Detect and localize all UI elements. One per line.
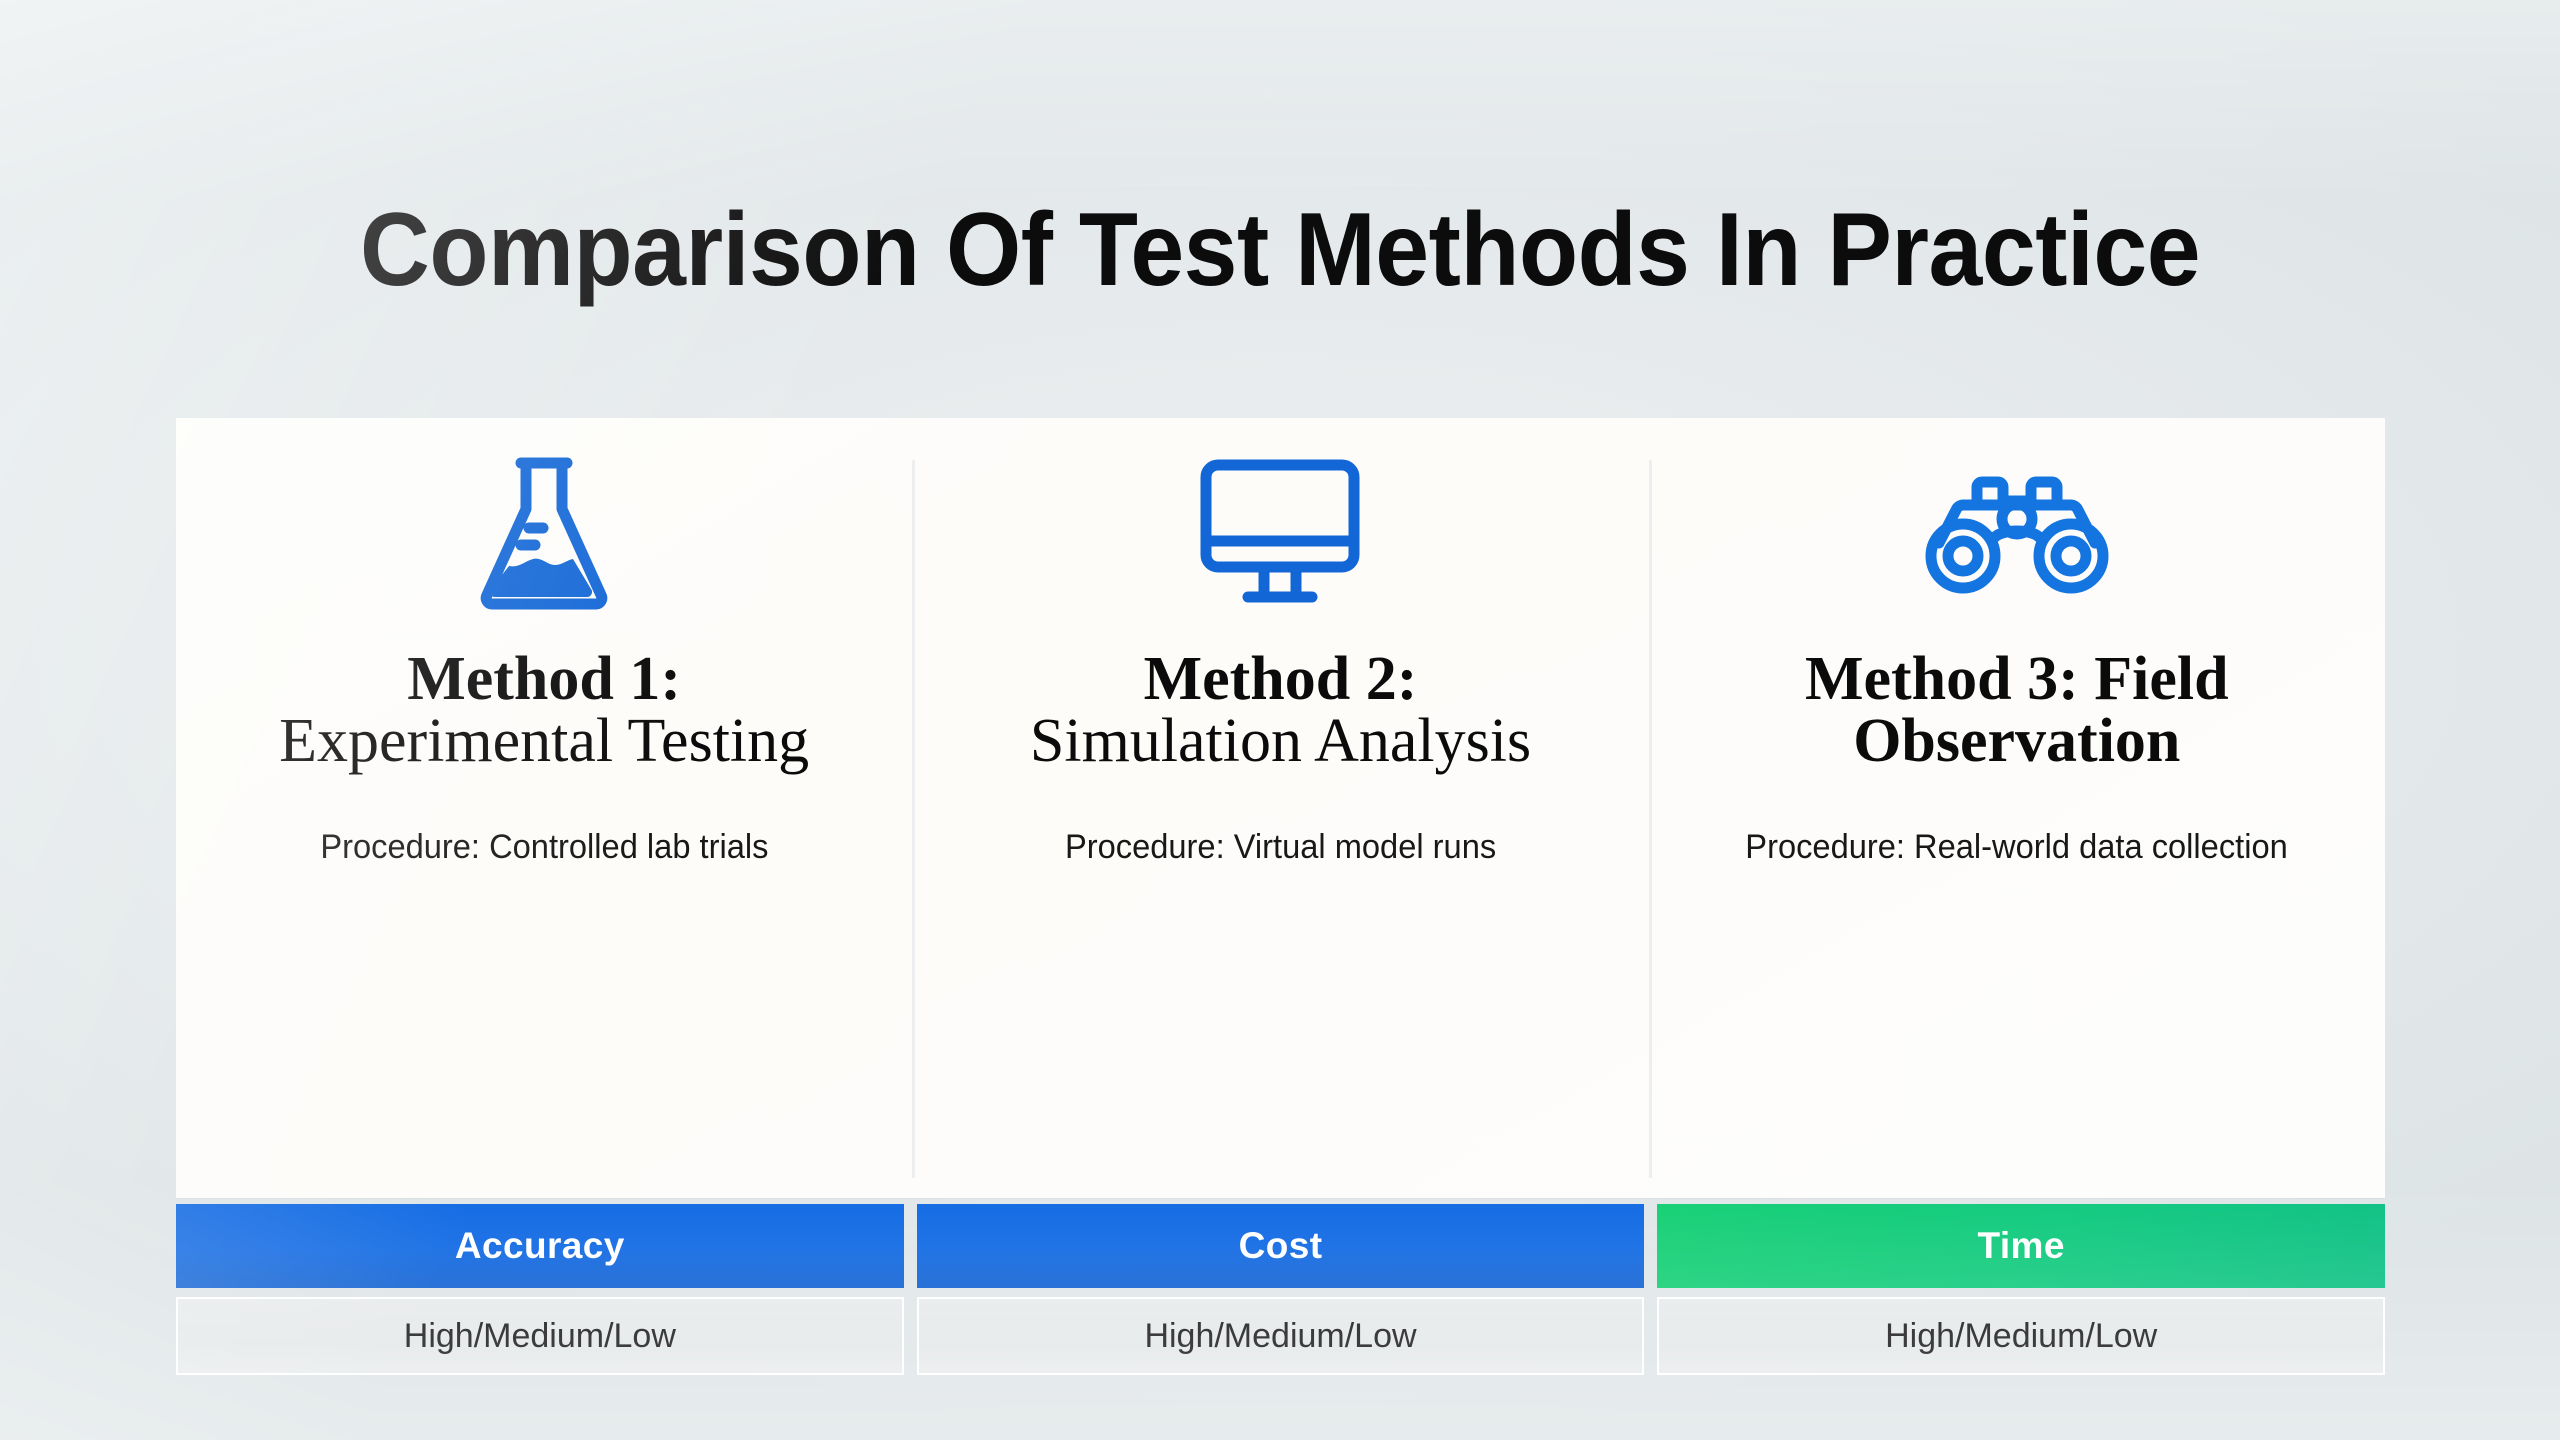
method-procedure-1: Procedure: Controlled lab trials [320,828,768,867]
method-heading-line2: Simulation Analysis [1030,710,1531,772]
metric-value-time: High/Medium/Low [1657,1297,2385,1375]
metric-value-cost: High/Medium/Low [917,1297,1645,1375]
method-procedure-2: Procedure: Virtual model runs [1065,828,1496,867]
metric-cost: Cost High/Medium/Low [917,1204,1645,1375]
metrics-row: Accuracy High/Medium/Low Cost High/Mediu… [176,1204,2385,1375]
method-heading-line2: Experimental Testing [279,710,809,772]
methods-panel: Method 1: Experimental Testing Procedure… [176,418,2385,1198]
slide-canvas: Comparison Of Test Methods In Practice M… [0,0,2560,1440]
method-heading-line1: Method 2: [1030,648,1531,710]
method-card-2[interactable]: Method 2: Simulation Analysis Procedure:… [912,418,1648,1198]
metric-accuracy: Accuracy High/Medium/Low [176,1204,904,1375]
method-procedure-3: Procedure: Real-world data collection [1746,828,2288,867]
method-heading-2: Method 2: Simulation Analysis [1030,648,1531,772]
binoculars-icon [1919,418,2115,648]
flask-icon [469,418,619,648]
method-heading-line2: Observation [1805,710,2229,772]
page-title: Comparison Of Test Methods In Practice [90,196,2471,305]
metric-time: Time High/Medium/Low [1657,1204,2385,1375]
method-card-3[interactable]: Method 3: Field Observation Procedure: R… [1649,418,2385,1198]
method-card-1[interactable]: Method 1: Experimental Testing Procedure… [176,418,912,1198]
monitor-icon [1198,418,1362,648]
method-heading-line1: Method 3: Field [1805,648,2229,710]
method-heading-1: Method 1: Experimental Testing [279,648,809,772]
metric-value-accuracy: High/Medium/Low [176,1297,904,1375]
metric-label-accuracy[interactable]: Accuracy [176,1204,904,1288]
metric-label-cost[interactable]: Cost [917,1204,1645,1288]
metric-label-time[interactable]: Time [1657,1204,2385,1288]
method-heading-line1: Method 1: [279,648,809,710]
method-heading-3: Method 3: Field Observation [1805,648,2229,772]
